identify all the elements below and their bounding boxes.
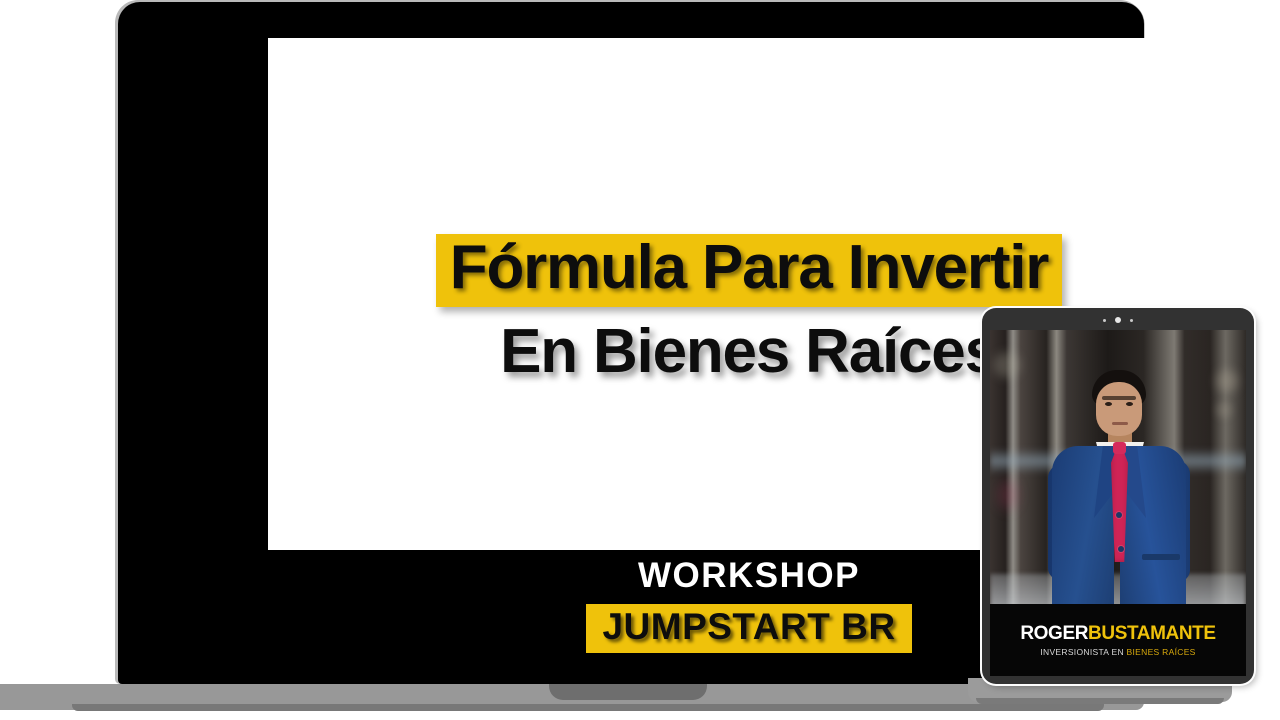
photo-bokeh-light	[1216, 370, 1238, 392]
person-face	[1096, 382, 1142, 436]
slide-title-line1-highlight: Fórmula Para Invertir	[268, 234, 1230, 307]
presenter-subtitle-highlight: BIENES RAÍCES	[1127, 647, 1196, 657]
person-eyebrows	[1102, 396, 1136, 400]
person-eye-right	[1126, 402, 1133, 406]
sensor-dot-icon	[1130, 319, 1133, 322]
presenter-first-name: ROGER	[1020, 623, 1088, 644]
presenter-subtitle: INVERSIONISTA EN BIENES RAÍCES	[1040, 648, 1195, 657]
photo-bokeh-light	[1216, 402, 1232, 418]
person-eye-left	[1105, 402, 1112, 406]
jacket-button	[1118, 546, 1124, 552]
tablet-screen: ROGERBUSTAMANTE INVERSIONISTA EN BIENES …	[990, 330, 1246, 676]
person-mouth	[1112, 422, 1128, 425]
slide-title-line1: Fórmula Para Invertir	[450, 233, 1048, 302]
tablet-body: ROGERBUSTAMANTE INVERSIONISTA EN BIENES …	[982, 308, 1254, 684]
brand-label: JUMPSTART BR	[602, 606, 895, 647]
tablet-mockup: ROGERBUSTAMANTE INVERSIONISTA EN BIENES …	[968, 300, 1268, 720]
sensor-dot-icon	[1103, 319, 1106, 322]
laptop-base-notch	[549, 684, 707, 700]
photo-bokeh-light	[998, 480, 1018, 510]
tablet-base-shadow	[976, 698, 1224, 704]
presenter-subtitle-prefix: INVERSIONISTA EN	[1040, 647, 1126, 657]
person-figure	[1038, 364, 1198, 614]
portrait-photo	[990, 330, 1246, 614]
presenter-last-name: BUSTAMANTE	[1088, 623, 1216, 644]
brand-badge: JUMPSTART BR	[586, 604, 911, 653]
workshop-label: WORKSHOP	[638, 556, 860, 596]
laptop-base-shadow	[72, 704, 1104, 711]
jacket-button	[1116, 512, 1122, 518]
jacket-pocket	[1142, 554, 1180, 560]
camera-lens-icon	[1115, 317, 1121, 323]
person-tie-knot	[1113, 442, 1126, 454]
presenter-name: ROGERBUSTAMANTE	[1020, 624, 1215, 643]
photo-bokeh-light	[994, 352, 1020, 378]
nameplate: ROGERBUSTAMANTE INVERSIONISTA EN BIENES …	[990, 604, 1246, 676]
promo-mockup-canvas: Fórmula Para Invertir En Bienes Raíces W…	[0, 0, 1280, 720]
tablet-camera-cluster	[982, 317, 1254, 323]
